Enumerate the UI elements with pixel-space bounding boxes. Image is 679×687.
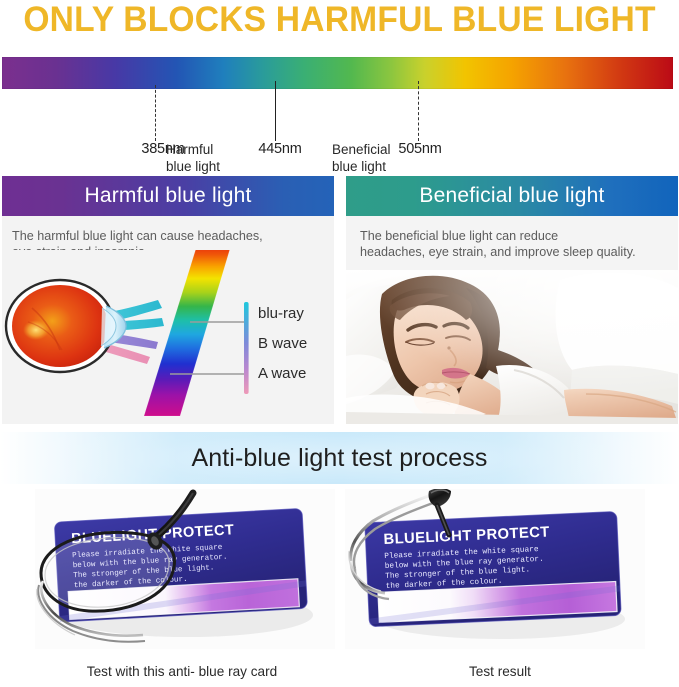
panel-harmful-header: Harmful blue light — [2, 176, 334, 216]
spectrum-tick-385 — [155, 85, 156, 141]
spectrum-zone-harmful: Harmful blue light — [166, 141, 220, 175]
panel-harmful-blue-light: Harmful blue light The harmful blue ligh… — [2, 176, 334, 424]
panel-beneficial-blue-light: Beneficial blue light The beneficial blu… — [346, 176, 678, 424]
panel-harmful-body-line1: The harmful blue light can cause headach… — [12, 228, 324, 244]
spectrum-label-505: 505nm — [398, 141, 441, 157]
spectrum-diagram: 385nm 445nm 505nm Harmful blue light Ben… — [0, 55, 679, 165]
ray-label-blu-ray: blu-ray — [258, 305, 304, 322]
eye-ray-diagram: blu-ray B wave A wave — [2, 250, 334, 424]
sleeping-woman-photo — [346, 270, 678, 424]
spectrum-zone-harmful-line1: Harmful — [166, 141, 220, 158]
ray-label-b-wave: B wave — [258, 335, 307, 352]
spectrum-gradient-bar — [2, 57, 673, 89]
test-photo-right: BLUELIGHT PROTECT Please irradiate the w… — [345, 489, 645, 649]
panel-beneficial-body: The beneficial blue light can reduce hea… — [346, 216, 678, 260]
spectrum-tick-445 — [275, 81, 276, 141]
section-title-test-process: Anti-blue light test process — [0, 432, 679, 484]
caption-test-result: Test result — [345, 664, 655, 679]
spectrum-zone-beneficial-line2: blue light — [332, 158, 391, 175]
panel-beneficial-header: Beneficial blue light — [346, 176, 678, 216]
panel-beneficial-body-line2: headaches, eye strain, and improve sleep… — [360, 244, 668, 260]
spectrum-label-445: 445nm — [258, 141, 301, 157]
ray-label-a-wave: A wave — [258, 365, 306, 382]
spectrum-zone-beneficial: Beneficial blue light — [332, 141, 391, 175]
test-photo-left: BLUELIGHT PROTECT Please irradiate the w… — [35, 489, 335, 649]
page-headline: ONLY BLOCKS HARMFUL BLUE LIGHT — [14, 0, 666, 42]
ray-legend-tick-bar — [244, 302, 249, 394]
spectrum-zone-harmful-line2: blue light — [166, 158, 220, 175]
spectrum-tick-505 — [418, 81, 419, 141]
panel-beneficial-body-line1: The beneficial blue light can reduce — [360, 228, 668, 244]
spectrum-zone-beneficial-line1: Beneficial — [332, 141, 391, 158]
caption-test-with-card: Test with this anti- blue ray card — [27, 664, 337, 679]
